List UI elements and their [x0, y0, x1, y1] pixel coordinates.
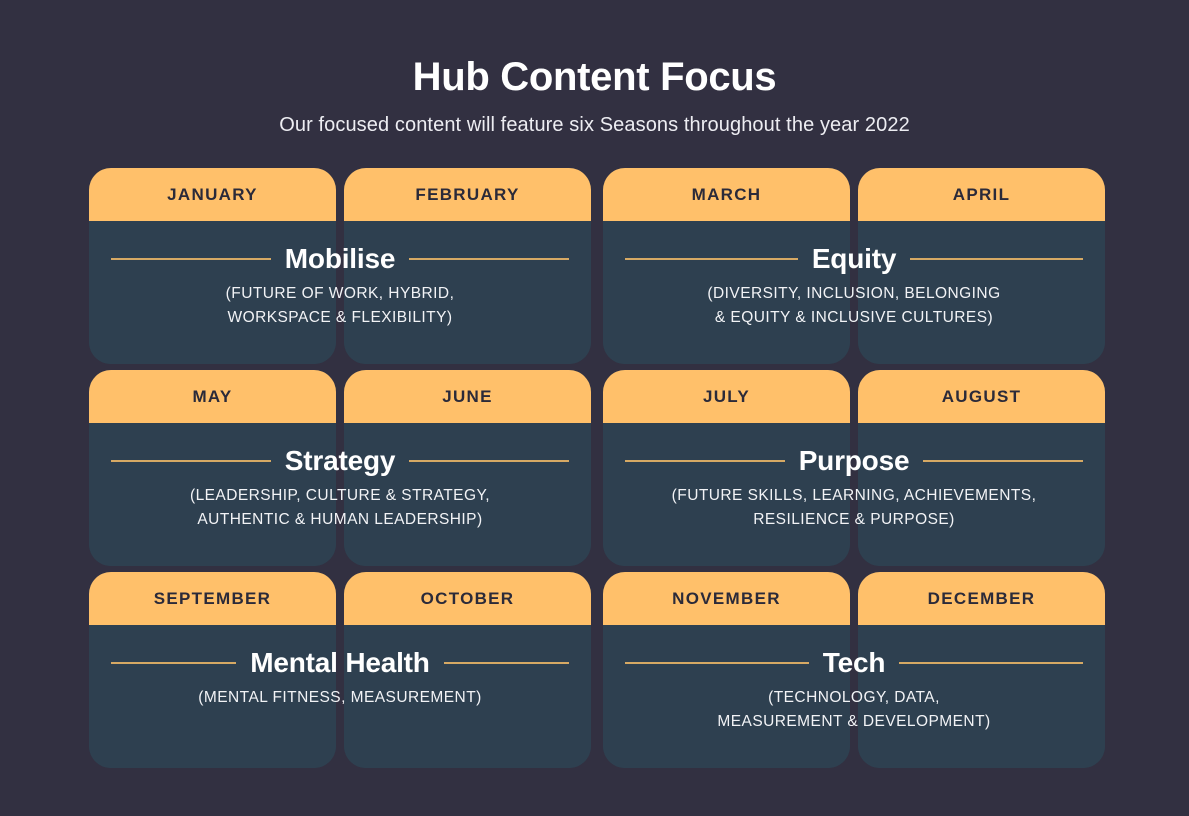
infographic-canvas: Hub Content Focus Our focused content wi…	[0, 0, 1189, 816]
season-pair-mobilise: JANUARYFEBRUARYMobilise(FUTURE OF WORK, …	[89, 168, 591, 364]
month-card-april[interactable]: APRIL	[858, 168, 1105, 364]
month-body	[603, 423, 850, 566]
page-subtitle: Our focused content will feature six Sea…	[0, 114, 1189, 137]
month-label: JANUARY	[167, 185, 258, 205]
month-body	[603, 221, 850, 364]
month-header-march: MARCH	[603, 168, 850, 221]
month-header-january: JANUARY	[89, 168, 336, 221]
month-header-september: SEPTEMBER	[89, 572, 336, 625]
month-label: NOVEMBER	[672, 589, 781, 609]
month-card-june[interactable]: JUNE	[344, 370, 591, 566]
month-label: SEPTEMBER	[154, 589, 272, 609]
month-body	[344, 423, 591, 566]
month-card-january[interactable]: JANUARY	[89, 168, 336, 364]
month-header-june: JUNE	[344, 370, 591, 423]
month-body	[344, 221, 591, 364]
month-body	[89, 625, 336, 768]
month-body	[858, 625, 1105, 768]
month-header-july: JULY	[603, 370, 850, 423]
month-card-february[interactable]: FEBRUARY	[344, 168, 591, 364]
month-body	[344, 625, 591, 768]
month-label: JUNE	[442, 387, 493, 407]
month-label: AUGUST	[942, 387, 1022, 407]
month-body	[89, 221, 336, 364]
month-label: OCTOBER	[421, 589, 515, 609]
month-label: FEBRUARY	[415, 185, 519, 205]
month-label: JULY	[703, 387, 750, 407]
month-header-august: AUGUST	[858, 370, 1105, 423]
month-card-september[interactable]: SEPTEMBER	[89, 572, 336, 768]
month-body	[858, 423, 1105, 566]
month-card-july[interactable]: JULY	[603, 370, 850, 566]
season-pair-mental-health: SEPTEMBEROCTOBERMental Health(MENTAL FIT…	[89, 572, 591, 768]
month-label: APRIL	[953, 185, 1011, 205]
month-card-december[interactable]: DECEMBER	[858, 572, 1105, 768]
month-body	[89, 423, 336, 566]
month-label: MAY	[192, 387, 232, 407]
month-card-november[interactable]: NOVEMBER	[603, 572, 850, 768]
month-label: MARCH	[692, 185, 762, 205]
season-pair-equity: MARCHAPRILEquity(DIVERSITY, INCLUSION, B…	[603, 168, 1105, 364]
month-header-may: MAY	[89, 370, 336, 423]
season-row: SEPTEMBEROCTOBERMental Health(MENTAL FIT…	[89, 572, 1105, 768]
season-pair-tech: NOVEMBERDECEMBERTech(TECHNOLOGY, DATA, M…	[603, 572, 1105, 768]
season-row: JANUARYFEBRUARYMobilise(FUTURE OF WORK, …	[89, 168, 1105, 364]
month-body	[603, 625, 850, 768]
month-label: DECEMBER	[928, 589, 1036, 609]
month-header-december: DECEMBER	[858, 572, 1105, 625]
season-grid: JANUARYFEBRUARYMobilise(FUTURE OF WORK, …	[89, 168, 1105, 768]
month-header-october: OCTOBER	[344, 572, 591, 625]
page-title: Hub Content Focus	[0, 55, 1189, 100]
month-header-february: FEBRUARY	[344, 168, 591, 221]
month-header-november: NOVEMBER	[603, 572, 850, 625]
month-body	[858, 221, 1105, 364]
season-row: MAYJUNEStrategy(LEADERSHIP, CULTURE & ST…	[89, 370, 1105, 566]
month-header-april: APRIL	[858, 168, 1105, 221]
season-pair-strategy: MAYJUNEStrategy(LEADERSHIP, CULTURE & ST…	[89, 370, 591, 566]
season-pair-purpose: JULYAUGUSTPurpose(FUTURE SKILLS, LEARNIN…	[603, 370, 1105, 566]
month-card-march[interactable]: MARCH	[603, 168, 850, 364]
month-card-august[interactable]: AUGUST	[858, 370, 1105, 566]
month-card-october[interactable]: OCTOBER	[344, 572, 591, 768]
month-card-may[interactable]: MAY	[89, 370, 336, 566]
